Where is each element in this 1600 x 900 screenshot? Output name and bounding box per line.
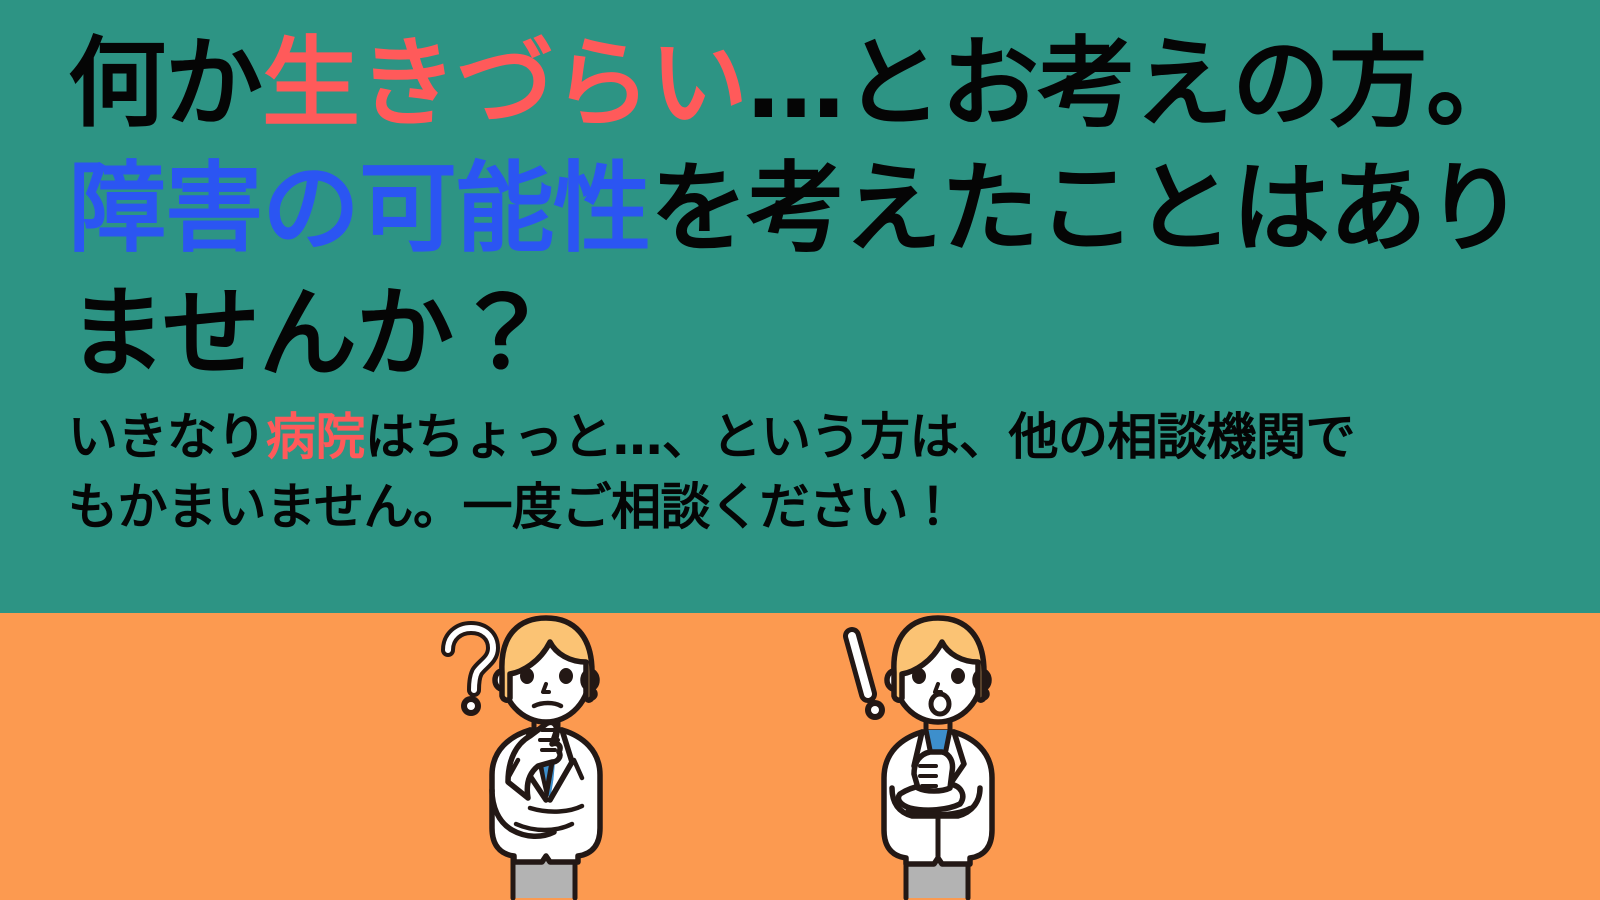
- headline-line-2-part-2: を考えたことはあり: [650, 152, 1523, 266]
- promo-banner: 何か生きづらい…とお考えの方。 障害の可能性を考えたことはあり ませんか？ いき…: [0, 0, 1600, 900]
- subcopy-line-1: いきなり病院はちょっと…、という方は、他の相談機関で: [68, 402, 1518, 472]
- subcopy-line-1-part-1: いきなり: [68, 408, 266, 466]
- headline-line-2: 障害の可能性を考えたことはあり: [68, 147, 1548, 272]
- headline-block: 何か生きづらい…とお考えの方。 障害の可能性を考えたことはあり ませんか？: [68, 22, 1548, 397]
- subcopy-line-1-part-3: はちょっと…、という方は、他の相談機関で: [365, 408, 1355, 466]
- headline-line-1: 何か生きづらい…とお考えの方。: [68, 22, 1548, 147]
- headline-line-3-part-1: ませんか？: [68, 277, 550, 391]
- subcopy-line-2-part-1: もかまいません。一度ご相談ください！: [68, 478, 958, 536]
- subcopy-line-1-highlight-red: 病院: [266, 408, 365, 466]
- headline-line-2-highlight-blue: 障害の可能性: [68, 152, 650, 266]
- headline-line-3: ませんか？: [68, 272, 1548, 397]
- subcopy-block: いきなり病院はちょっと…、という方は、他の相談機関で もかまいません。一度ご相談…: [68, 402, 1518, 542]
- illustration-woman-thinking: [430, 610, 660, 900]
- question-mark-icon: [448, 628, 493, 716]
- bottom-color-panel: [0, 613, 1600, 900]
- headline-line-1-highlight-red: 生きづらい: [262, 27, 747, 141]
- headline-line-1-part-3: …とお考えの方。: [747, 27, 1523, 141]
- subcopy-line-2: もかまいません。一度ご相談ください！: [68, 472, 1518, 542]
- illustration-woman-surprised: [830, 610, 1040, 900]
- headline-line-1-part-1: 何か: [68, 27, 262, 141]
- exclamation-mark-icon: [852, 636, 885, 720]
